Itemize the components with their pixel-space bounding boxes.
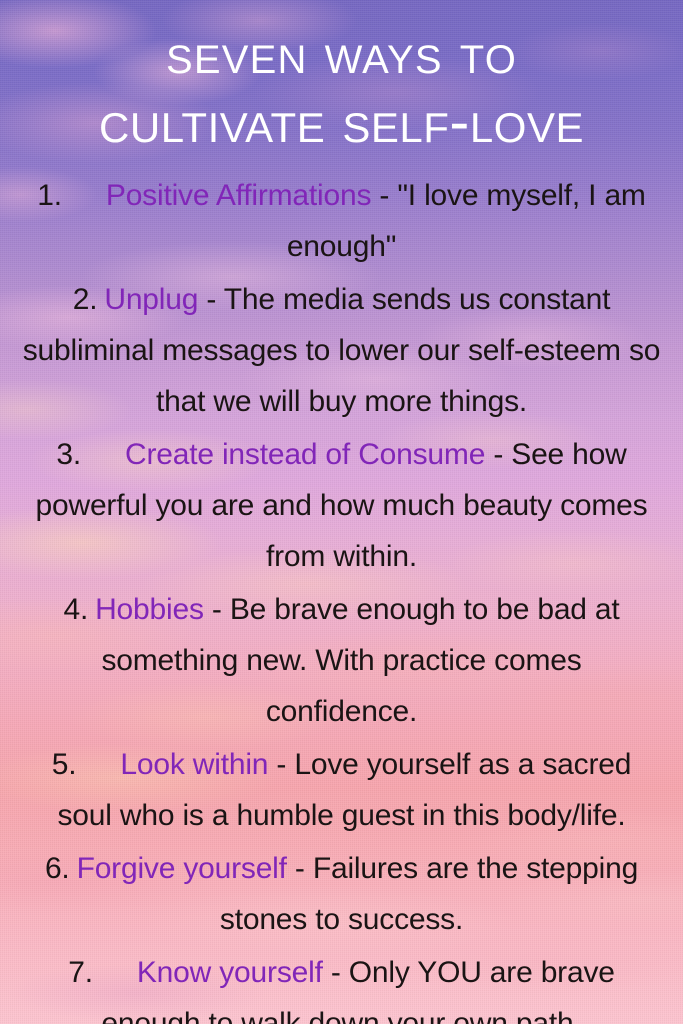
list-item: 1.Positive Affirmations - "I love myself…	[22, 170, 661, 272]
poster-title-line-2: Cultivate Self-Love	[4, 88, 679, 156]
list-item: 6.Forgive yourself - Failures are the st…	[22, 843, 661, 945]
list-item-dash: -	[295, 852, 305, 885]
list-item-number: 1.	[37, 179, 62, 212]
list-item-keyword: Look within	[120, 748, 268, 781]
list-item-keyword: Unplug	[104, 283, 198, 316]
list-item-number: 4.	[63, 593, 88, 626]
list-item-number: 7.	[68, 956, 93, 989]
list-item-number: 6.	[45, 852, 70, 885]
list-item-number: 2.	[73, 283, 98, 316]
list-item-dash: -	[206, 283, 216, 316]
list-item-keyword: Hobbies	[95, 593, 204, 626]
list-item-dash: -	[276, 748, 286, 781]
list-item-keyword: Forgive yourself	[77, 852, 287, 885]
list-item-dash: -	[379, 179, 389, 212]
list-item-number: 3.	[56, 438, 81, 471]
list-item: 5.Look within - Love yourself as a sacre…	[22, 739, 661, 841]
poster-title: Seven Ways to Cultivate Self-Love	[0, 0, 683, 156]
poster-title-line-1: Seven Ways to	[4, 20, 679, 88]
poster-canvas: Seven Ways to Cultivate Self-Love 1.Posi…	[0, 0, 683, 1024]
list-item: 3.Create instead of Consume - See how po…	[22, 429, 661, 582]
list-item: 2.Unplug - The media sends us constant s…	[22, 274, 661, 427]
list-item-keyword: Positive Affirmations	[106, 179, 371, 212]
list-item-keyword: Create instead of Consume	[125, 438, 485, 471]
list-item-number: 5.	[52, 748, 77, 781]
poster-content: Seven Ways to Cultivate Self-Love 1.Posi…	[0, 0, 683, 1024]
list-item-dash: -	[331, 956, 341, 989]
list-item: 4.Hobbies - Be brave enough to be bad at…	[22, 584, 661, 737]
list-item-keyword: Know yourself	[137, 956, 323, 989]
list-item-dash: -	[212, 593, 222, 626]
list-item-dash: -	[493, 438, 503, 471]
list-item: 7.Know yourself - Only YOU are brave eno…	[22, 947, 661, 1024]
self-love-list: 1.Positive Affirmations - "I love myself…	[0, 156, 683, 1024]
